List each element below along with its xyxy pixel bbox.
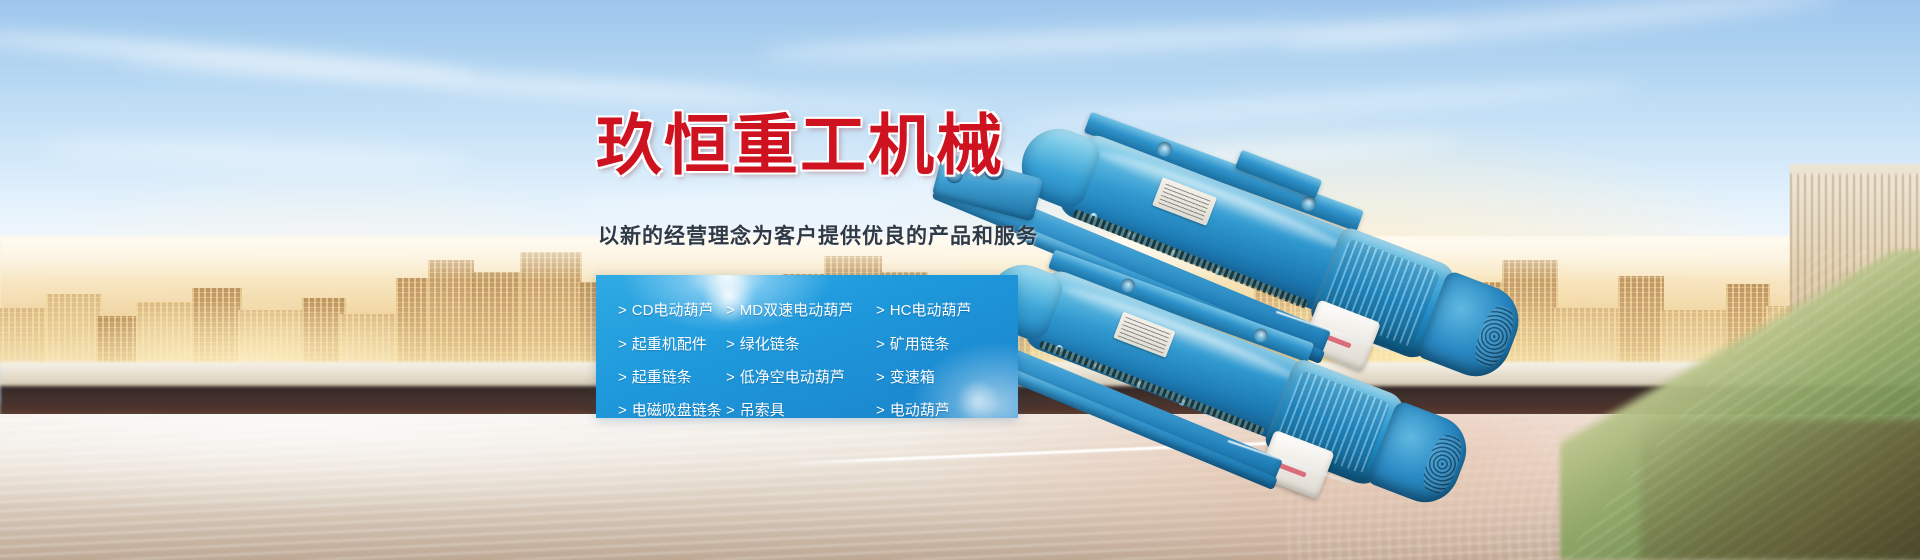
- product-link-label: 起重链条: [632, 369, 692, 386]
- product-link-label: MD双速电动葫芦: [740, 302, 853, 319]
- chevron-right-icon: >: [726, 402, 735, 418]
- chevron-right-icon: >: [726, 302, 735, 319]
- product-link-label: 吊索具: [740, 402, 785, 418]
- product-link-label: 矿用链条: [890, 336, 950, 353]
- product-link-label: HC电动葫芦: [890, 302, 972, 319]
- product-link-label: 电磁吸盘链条: [632, 402, 722, 418]
- product-link[interactable]: >绿化链条: [726, 337, 800, 352]
- product-link[interactable]: >电磁吸盘链条: [618, 403, 722, 418]
- chevron-right-icon: >: [876, 369, 885, 386]
- hero-banner: 玖恒重工机械 以新的经营理念为客户提供优良的产品和服务 >CD电动葫芦>MD双速…: [0, 0, 1920, 560]
- product-link-label: 起重机配件: [632, 336, 707, 353]
- product-photo-electric-hoists: [870, 50, 1920, 480]
- product-link-label: CD电动葫芦: [632, 302, 714, 319]
- product-link[interactable]: >变速箱: [876, 370, 935, 385]
- product-link[interactable]: >HC电动葫芦: [876, 303, 971, 318]
- chevron-right-icon: >: [618, 369, 627, 386]
- page-subtitle: 以新的经营理念为客户提供优良的产品和服务: [598, 226, 1038, 247]
- product-link-label: 低净空电动葫芦: [740, 369, 845, 386]
- chevron-right-icon: >: [618, 302, 627, 319]
- product-link[interactable]: >吊索具: [726, 403, 785, 418]
- chevron-right-icon: >: [726, 336, 735, 353]
- chevron-right-icon: >: [876, 402, 885, 418]
- product-links-panel: >CD电动葫芦>MD双速电动葫芦>HC电动葫芦>起重机配件>绿化链条>矿用链条>…: [596, 275, 1018, 418]
- product-link-label: 绿化链条: [740, 336, 800, 353]
- page-title: 玖恒重工机械: [596, 112, 1004, 178]
- chevron-right-icon: >: [876, 336, 885, 353]
- product-link[interactable]: >电动葫芦: [876, 403, 950, 418]
- chevron-right-icon: >: [618, 336, 627, 353]
- chevron-right-icon: >: [876, 302, 885, 319]
- product-link[interactable]: >低净空电动葫芦: [726, 370, 845, 385]
- product-link-label: 电动葫芦: [890, 402, 950, 418]
- chevron-right-icon: >: [618, 402, 627, 418]
- product-link[interactable]: >起重机配件: [618, 337, 707, 352]
- product-links-list: >CD电动葫芦>MD双速电动葫芦>HC电动葫芦>起重机配件>绿化链条>矿用链条>…: [596, 275, 1018, 418]
- product-link[interactable]: >矿用链条: [876, 337, 950, 352]
- product-link[interactable]: >起重链条: [618, 370, 692, 385]
- product-link[interactable]: >MD双速电动葫芦: [726, 303, 853, 318]
- chevron-right-icon: >: [726, 369, 735, 386]
- product-link-label: 变速箱: [890, 369, 935, 386]
- product-link[interactable]: >CD电动葫芦: [618, 303, 713, 318]
